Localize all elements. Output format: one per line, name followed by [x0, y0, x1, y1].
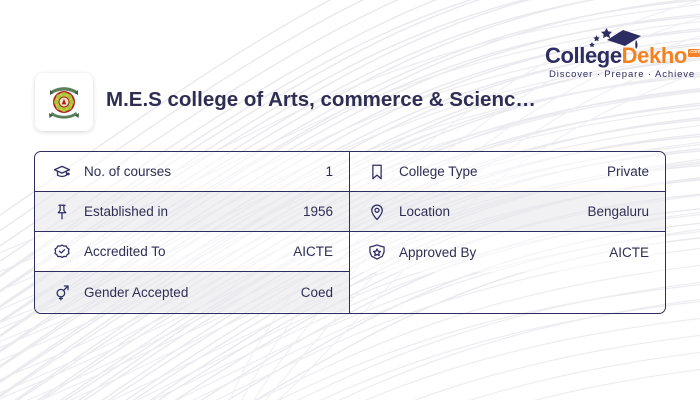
brand-dotcom-badge: .com	[688, 49, 700, 57]
page-title: M.E.S college of Arts, commerce & Scienc…	[106, 86, 536, 114]
college-info-card: CollegeDekho.com Discover · Prepare · Ac…	[0, 0, 700, 400]
fact-label: College Type	[399, 164, 478, 179]
map-pin-icon	[367, 202, 386, 221]
table-row-no-of-courses: No. of courses 1	[35, 152, 349, 192]
facts-column-left: No. of courses 1 Established in 1956	[35, 152, 350, 313]
check-circle-icon	[52, 242, 71, 261]
fact-label: Established in	[84, 204, 168, 219]
fact-value: Coed	[301, 285, 333, 300]
table-row-college-type: College Type Private	[350, 152, 665, 192]
table-row-gender-accepted: Gender Accepted Coed	[35, 272, 349, 312]
fact-label: Accredited To	[84, 244, 166, 259]
gender-icon	[52, 283, 71, 302]
table-row-empty	[350, 272, 665, 312]
table-row-accredited-to: Accredited To AICTE	[35, 232, 349, 272]
college-facts-table: No. of courses 1 Established in 1956	[34, 151, 666, 314]
table-row-established-in: Established in 1956	[35, 192, 349, 232]
facts-column-right: College Type Private Location Bengaluru	[350, 152, 665, 313]
bookmark-icon	[367, 162, 386, 181]
brand-name-college: College	[545, 43, 622, 68]
table-row-location: Location Bengaluru	[350, 192, 665, 232]
fact-value: AICTE	[609, 245, 649, 260]
fact-value: AICTE	[293, 244, 333, 259]
fact-label: Gender Accepted	[84, 285, 188, 300]
fact-label: Location	[399, 204, 450, 219]
approved-badge-icon	[367, 243, 386, 262]
fact-value: Bengaluru	[587, 204, 649, 219]
table-row-approved-by: Approved By AICTE	[350, 232, 665, 272]
fact-value: 1	[325, 164, 333, 179]
college-logo	[35, 73, 93, 131]
brand-tagline: Discover · Prepare · Achieve	[549, 69, 695, 80]
fact-value: 1956	[303, 204, 333, 219]
graduation-cap-icon	[52, 162, 71, 181]
collegedekho-logo[interactable]: CollegeDekho.com Discover · Prepare · Ac…	[545, 28, 685, 78]
brand-wordmark: CollegeDekho.com	[545, 45, 700, 67]
fact-value: Private	[607, 164, 649, 179]
fact-label: No. of courses	[84, 164, 171, 179]
college-emblem-icon	[44, 82, 84, 122]
push-pin-icon	[52, 202, 71, 221]
brand-name-dekho: Dekho	[622, 43, 687, 68]
fact-label: Approved By	[399, 245, 476, 260]
